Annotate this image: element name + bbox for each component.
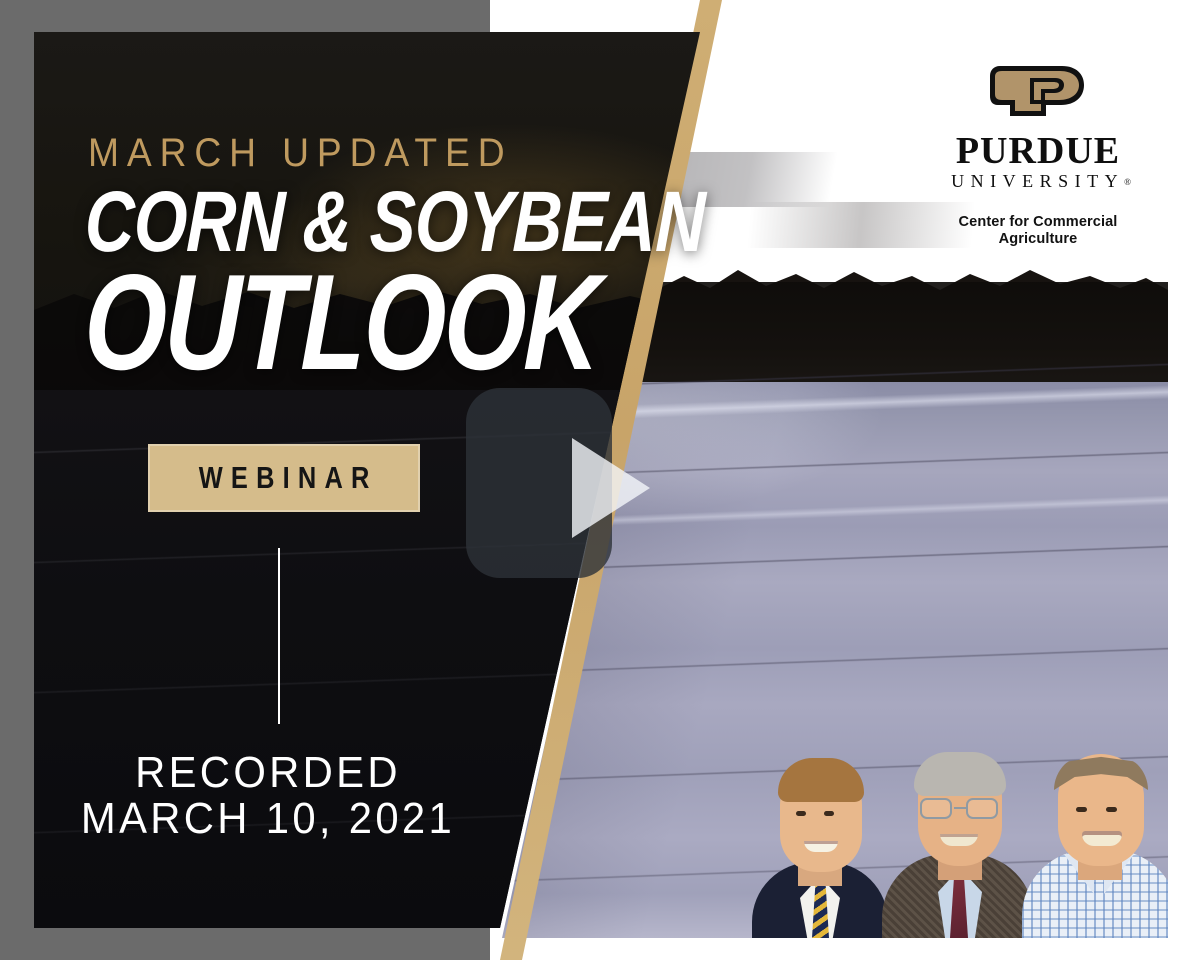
center-for-commercial-agriculture-label: Center for Commercial Agriculture xyxy=(933,213,1143,247)
purdue-p-logo-icon xyxy=(988,62,1088,120)
registered-mark: ® xyxy=(1124,177,1131,187)
presenter-left-eye-right xyxy=(824,811,834,816)
glasses-lens-left xyxy=(920,798,952,819)
webinar-badge: WEBINAR xyxy=(148,444,420,512)
recorded-label: RECORDED xyxy=(13,750,522,796)
webinar-badge-label: WEBINAR xyxy=(190,460,377,496)
purdue-logo-block: PURDUE UNIVERSITY® Center for Commercial… xyxy=(930,62,1146,247)
video-thumbnail-card: MARCH UPDATED CORN & SOYBEAN OUTLOOK WEB… xyxy=(0,0,1200,960)
presenter-left-eye-left xyxy=(796,811,806,816)
presenter-right-eye-right xyxy=(1106,807,1117,812)
presenter-center-hair xyxy=(914,752,1006,796)
purdue-university-label: UNIVERSITY xyxy=(951,171,1124,191)
presenter-right xyxy=(1028,752,1168,938)
promo-title-line-2: OUTLOOK xyxy=(83,264,600,381)
presenter-center-smile xyxy=(940,834,978,846)
purdue-wordmark: PURDUE xyxy=(930,132,1146,170)
presenter-center xyxy=(890,752,1026,938)
presenter-left xyxy=(756,756,880,938)
presenter-right-eye-left xyxy=(1076,807,1087,812)
presenter-photos xyxy=(752,752,1168,938)
recorded-date-block: RECORDED MARCH 10, 2021 xyxy=(0,750,536,842)
purdue-university-text: UNIVERSITY® xyxy=(930,170,1146,193)
recorded-date: MARCH 10, 2021 xyxy=(13,796,522,842)
vertical-divider-rule xyxy=(278,548,280,724)
glasses-lens-right xyxy=(966,798,998,819)
play-button[interactable] xyxy=(466,388,612,578)
presenter-right-smile xyxy=(1082,831,1122,846)
presenter-left-hair xyxy=(778,758,864,802)
promo-kicker: MARCH UPDATED xyxy=(88,131,512,176)
presenter-center-glasses-icon xyxy=(918,798,1002,820)
